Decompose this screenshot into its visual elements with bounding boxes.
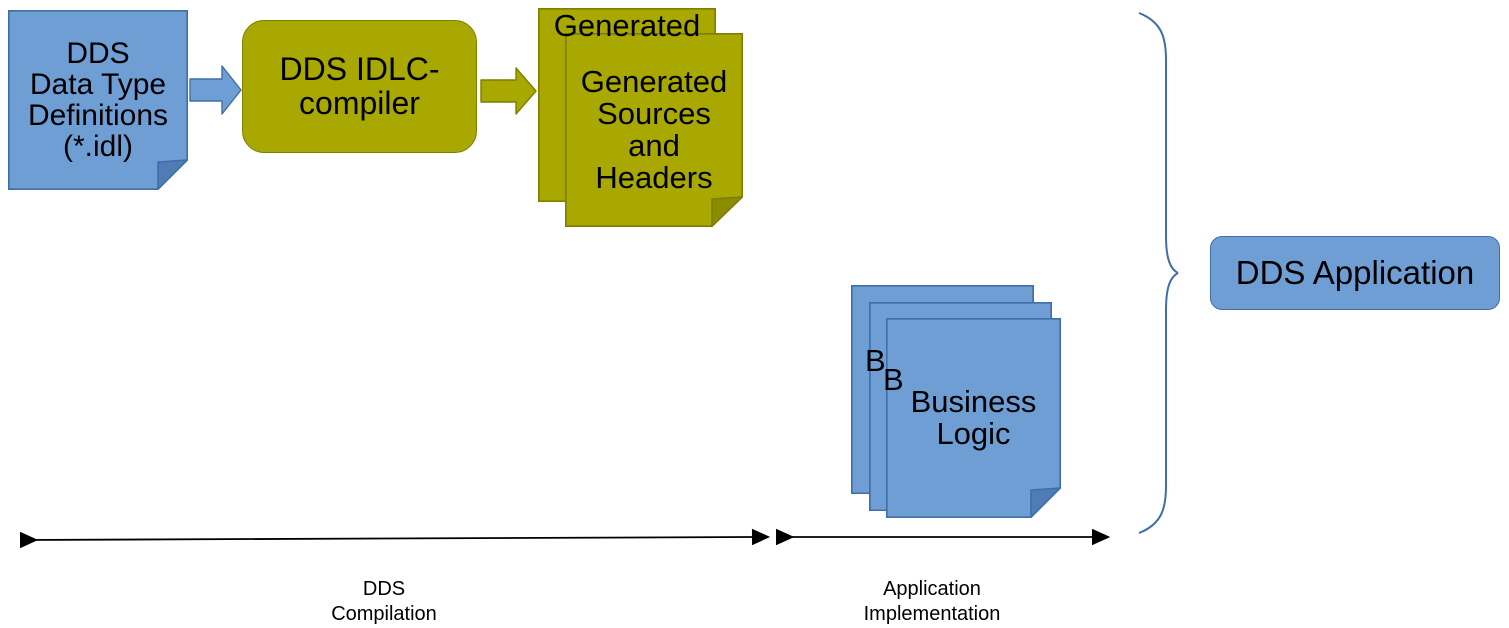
phase-label-dds-compilation: DDS Compilation (284, 551, 484, 628)
node-dds-application-label: DDS Application (1236, 256, 1474, 291)
document-shape-generated-front (565, 33, 743, 227)
document-shape-idl (8, 10, 188, 190)
curly-brace-to-application (1139, 13, 1178, 533)
node-idl-source[interactable]: DDS Data Type Definitions (*.idl) (8, 10, 188, 190)
arrow-idl-to-compiler (190, 66, 241, 114)
diagram-canvas: DDS Data Type Definitions (*.idl) DDS ID… (0, 0, 1509, 611)
node-generated-front[interactable]: Generated Sources and Headers (565, 33, 743, 227)
phase-label-application-implementation-text: Application Implementation (864, 578, 1001, 626)
phase-label-dds-compilation-text: DDS Compilation (331, 578, 437, 626)
node-compiler[interactable]: DDS IDLC- compiler (242, 20, 477, 153)
phase-label-application-implementation: Application Implementation (832, 551, 1032, 628)
node-business-logic-front[interactable]: Business Logic (886, 318, 1061, 518)
arrow-compiler-to-generated (481, 68, 536, 114)
node-compiler-label: DDS IDLC- compiler (279, 53, 439, 120)
node-dds-application[interactable]: DDS Application (1210, 236, 1500, 310)
phase-arrow-dds-compilation (20, 537, 752, 540)
document-shape-business-front (886, 318, 1061, 518)
